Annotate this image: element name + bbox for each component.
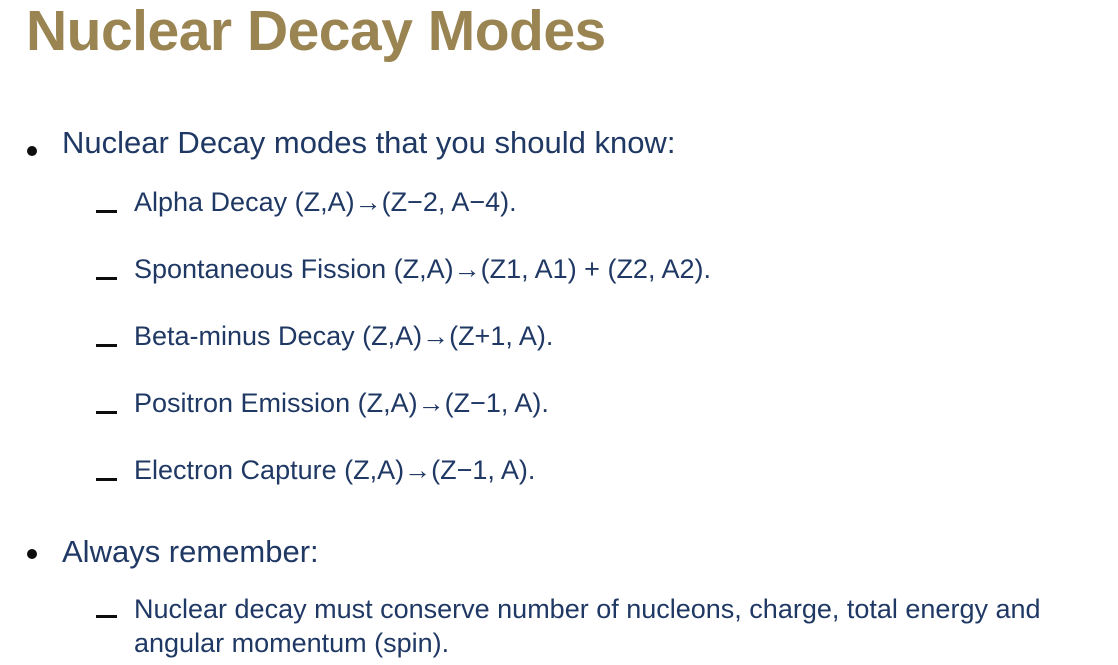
slide-canvas: Nuclear Decay Modes Nuclear Decay modes … [0, 0, 1118, 663]
list-item: Electron Capture (Z,A)→(Z−1, A). [0, 452, 1118, 519]
list-item: Nuclear Decay modes that you should know… [0, 122, 1118, 180]
list-item-label: Nuclear decay must conserve number of nu… [134, 594, 1041, 658]
list-item-label: Always remember: [62, 534, 319, 569]
page-title: Nuclear Decay Modes [26, 0, 606, 65]
list-item: Beta-minus Decay (Z,A)→(Z+1, A). [0, 318, 1118, 385]
en-dash-bullet-icon [96, 210, 117, 213]
round-bullet-icon [27, 549, 37, 559]
list-item: Positron Emission (Z,A)→(Z−1, A). [0, 385, 1118, 452]
list-item-label: Nuclear Decay modes that you should know… [62, 125, 675, 160]
bullet-list: Nuclear Decay modes that you should know… [0, 122, 1118, 665]
en-dash-bullet-icon [96, 411, 117, 414]
list-item-label: Positron Emission (Z,A)→(Z−1, A). [134, 388, 549, 418]
round-bullet-icon [27, 146, 37, 156]
en-dash-bullet-icon [96, 478, 117, 481]
list-item: Nuclear decay must conserve number of nu… [0, 593, 1118, 665]
list-item: Spontaneous Fission (Z,A)→(Z1, A1) + (Z2… [0, 251, 1118, 318]
list-item-label: Alpha Decay (Z,A)→(Z−2, A−4). [134, 187, 517, 217]
en-dash-bullet-icon [96, 344, 117, 347]
list-item-label: Beta-minus Decay (Z,A)→(Z+1, A). [134, 321, 553, 351]
list-item: Alpha Decay (Z,A)→(Z−2, A−4). [0, 184, 1118, 251]
list-item-label: Electron Capture (Z,A)→(Z−1, A). [134, 455, 535, 485]
en-dash-bullet-icon [96, 615, 117, 618]
list-item-label: Spontaneous Fission (Z,A)→(Z1, A1) + (Z2… [134, 254, 711, 284]
list-item: Always remember: [0, 531, 1118, 589]
en-dash-bullet-icon [96, 277, 117, 280]
